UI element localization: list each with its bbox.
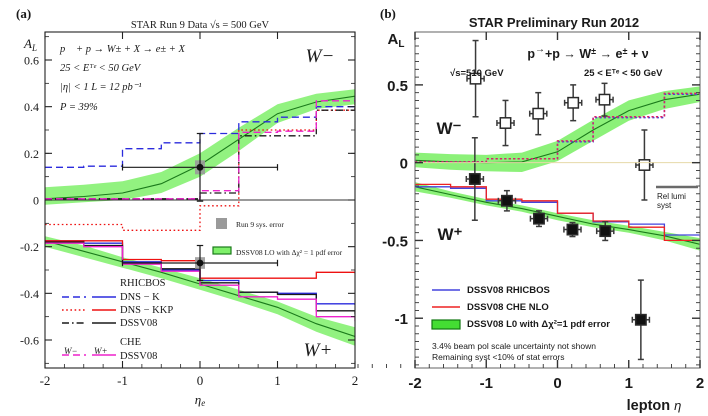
rel-lumi-line2: syst xyxy=(657,201,672,210)
panel-b-footnotes: 3.4% beam pol scale uncertainty not show… xyxy=(432,341,596,362)
panel-a-label-wplus: W+ xyxy=(304,340,333,361)
data-marker-filled-square xyxy=(636,315,646,325)
panel-b-rel-lumi-annotation: Rel lumi syst xyxy=(656,187,698,210)
y-tick-label: -1 xyxy=(395,311,408,328)
panel-a-plot: (a) STAR Run 9 Data √s = 500 GeV AL 0.60… xyxy=(0,0,360,416)
panel-b-reaction: p→+p → W± → e± + ν xyxy=(527,44,648,61)
legend-label: DSSV08 L0 with Δχ²=1 pdf error xyxy=(467,319,610,330)
panel-b-ylabel: AL xyxy=(388,31,405,50)
x-tick-label: 1 xyxy=(625,375,633,392)
legend-label: DSSV08 xyxy=(120,351,157,362)
data-marker-filled-square xyxy=(600,226,610,236)
x-tick-label: -2 xyxy=(40,373,51,388)
info-line: 25 < Eᵀᵉ < 50 GeV xyxy=(60,63,142,74)
panel-a-xlabel: ηe xyxy=(195,392,205,408)
data-marker xyxy=(197,164,204,171)
data-marker-filled-square xyxy=(470,174,480,184)
legend-label: DNS − KKP xyxy=(120,305,173,316)
y-tick-label: 0.2 xyxy=(24,147,39,161)
panel-a-tag: (a) xyxy=(16,6,31,21)
rel-lumi-line1: Rel lumi xyxy=(657,192,686,201)
panel-a-inline-legend: Run 9 sys. errorDSSV08 LO with Δχ² = 1 p… xyxy=(213,218,343,257)
footnote: 3.4% beam pol scale uncertainty not show… xyxy=(432,341,596,351)
x-tick-label: 2 xyxy=(696,375,704,392)
legend-swatch-pdf-band xyxy=(213,247,231,254)
panel-b-et-cut: 25 < Eᵀᵉ < 50 GeV xyxy=(584,68,663,79)
data-marker-open-square xyxy=(533,108,543,118)
y-tick-label: -0.5 xyxy=(382,233,408,250)
legend-swatch-sys-error xyxy=(216,218,227,229)
panel-b-xlabel: lepton η xyxy=(627,398,682,414)
y-tick-label: 0.4 xyxy=(24,100,39,114)
panel-a-label-wminus: W− xyxy=(306,46,335,67)
panel-b-header: STAR Preliminary Run 2012 xyxy=(469,15,639,30)
data-marker-filled-square xyxy=(567,224,577,234)
panel-a: (a) STAR Run 9 Data √s = 500 GeV AL 0.60… xyxy=(0,0,360,416)
data-marker-filled-square xyxy=(534,213,544,223)
panel-a-ylabel: AL xyxy=(23,36,37,53)
y-tick-label: -0.6 xyxy=(20,334,39,348)
footnote: Remaining syst <10% of stat errors xyxy=(432,352,565,362)
panel-a-model-legend: RHICBOSDNS − KDNS − KKPDSSV08CHEW−W+DSSV… xyxy=(62,278,173,362)
data-marker xyxy=(197,260,204,267)
x-tick-label: 0 xyxy=(553,375,561,392)
legend-label: DNS − K xyxy=(120,292,160,303)
panel-a-data-points xyxy=(123,134,278,281)
panel-b-legend: DSSV08 RHICBOSDSSV08 CHE NLODSSV08 L0 wi… xyxy=(432,285,610,330)
legend-label: DSSV08 RHICBOS xyxy=(467,285,550,296)
y-tick-label: -0.2 xyxy=(20,240,39,254)
legend-group-title-che: CHE xyxy=(120,337,141,348)
legend-label: DSSV08 CHE NLO xyxy=(467,302,549,313)
y-tick-label: 0.5 xyxy=(387,78,408,95)
data-marker-open-square xyxy=(639,160,649,170)
info-line: p⃗ + p → W± + X → e± + X xyxy=(59,44,186,55)
panel-b-energy: √s=510 GeV xyxy=(450,68,504,79)
x-tick-label: 0 xyxy=(197,373,204,388)
legend-label: DSSV08 xyxy=(120,318,157,329)
panel-b-plot: (b) STAR Preliminary Run 2012 AL 0.50-0.… xyxy=(354,0,708,416)
panel-b: (b) STAR Preliminary Run 2012 AL 0.50-0.… xyxy=(354,0,708,416)
figure-root: (a) STAR Run 9 Data √s = 500 GeV AL 0.60… xyxy=(0,0,708,416)
panel-a-header: STAR Run 9 Data √s = 500 GeV xyxy=(131,19,270,31)
x-tick-label: 1 xyxy=(274,373,281,388)
panel-b-label-wminus: W⁻ xyxy=(436,119,461,138)
info-line: P = 39% xyxy=(59,102,98,113)
x-tick-label: -1 xyxy=(480,375,493,392)
y-tick-label: 0 xyxy=(400,156,408,173)
y-tick-label: 0.6 xyxy=(24,54,39,68)
data-marker-open-square xyxy=(500,118,510,128)
legend-label: DSSV08 LO with Δχ² = 1 pdf error xyxy=(236,248,343,257)
x-tick-label: -2 xyxy=(408,375,421,392)
panel-b-tag: (b) xyxy=(380,6,396,21)
legend-group-title-rhicbos: RHICBOS xyxy=(120,278,166,289)
y-tick-label: -0.4 xyxy=(20,287,39,301)
legend-swatch-band xyxy=(432,320,460,329)
panel-b-label-wplus: W⁺ xyxy=(437,225,462,244)
data-marker-filled-square xyxy=(502,196,512,206)
data-marker-open-square xyxy=(568,98,578,108)
data-marker-open-square xyxy=(599,94,609,104)
x-tick-label: -1 xyxy=(117,373,128,388)
y-tick-label: 0 xyxy=(33,194,39,208)
info-line: |η| < 1 L = 12 pb⁻¹ xyxy=(60,82,142,93)
legend-label: Run 9 sys. error xyxy=(236,220,284,229)
panel-a-info-block: p⃗ + p → W± + X → e± + X25 < Eᵀᵉ < 50 Ge… xyxy=(59,44,186,113)
